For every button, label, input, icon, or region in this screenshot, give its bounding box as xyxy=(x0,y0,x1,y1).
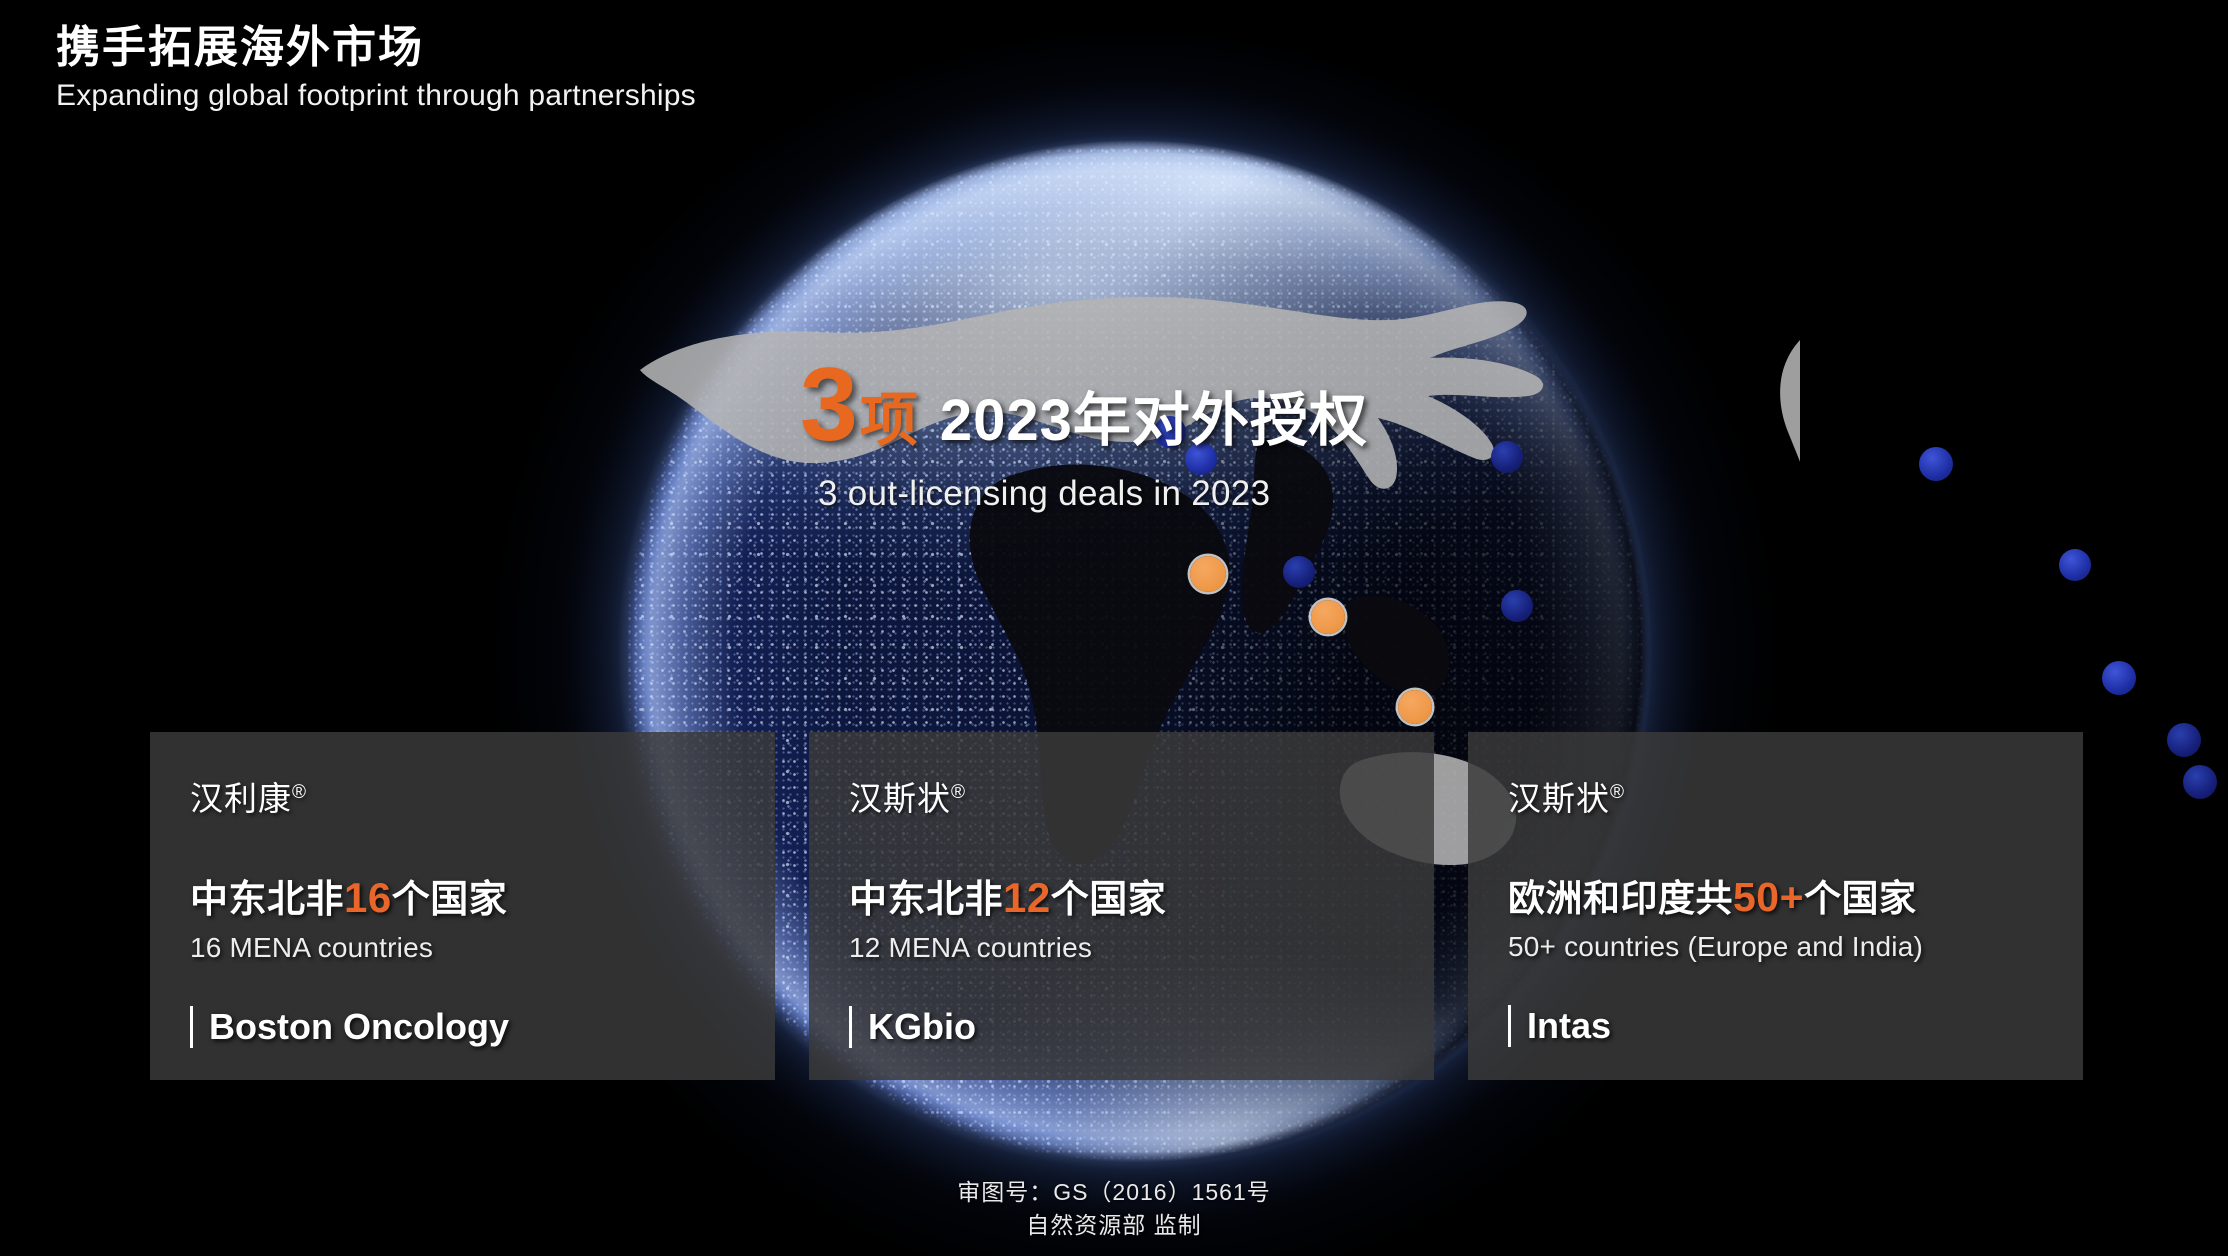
partnership-card: 汉斯状® 欧洲和印度共50+个国家 50+ countries (Europe … xyxy=(1468,732,2083,1080)
card-partner-name: Intas xyxy=(1527,1005,1611,1047)
footer-line-approval-number: 审图号：GS（2016）1561号 xyxy=(0,1176,2228,1209)
footer-line-authority: 自然资源部 监制 xyxy=(0,1209,2228,1242)
card-brand-name: 汉斯状 xyxy=(1508,780,1610,817)
card-brand: 汉斯状® xyxy=(1508,772,2083,820)
card-metric-en: 16 MENA countries xyxy=(190,932,775,964)
map-marker-india xyxy=(1311,600,1345,634)
north-america-landmass xyxy=(1780,326,1800,684)
vertical-bar-icon xyxy=(190,1006,193,1048)
map-marker-brazil-south xyxy=(2183,765,2217,799)
vertical-bar-icon xyxy=(849,1006,852,1048)
card-metric-prefix: 欧洲和印度共 xyxy=(1508,878,1733,919)
registered-trademark-icon: ® xyxy=(1610,782,1625,803)
card-metric-prefix: 中东北非 xyxy=(849,879,1003,921)
headline-number: 3 xyxy=(800,358,858,454)
card-brand: 汉斯状® xyxy=(849,772,1434,820)
partnership-card: 汉利康® 中东北非16个国家 16 MENA countries Boston … xyxy=(150,732,775,1080)
page-title-cn: 携手拓展海外市场 xyxy=(56,22,696,73)
map-marker-central-asia xyxy=(1283,556,1315,588)
headline-block: 3 项 2023年对外授权 3 out-licensing deals in 2… xyxy=(800,358,1368,514)
map-marker-south-america-north xyxy=(2102,661,2136,695)
map-marker-brazil-east xyxy=(2167,723,2201,757)
card-divider-gap xyxy=(1434,732,1468,1080)
card-metric-number: 12 xyxy=(1003,874,1051,921)
map-marker-east-asia xyxy=(1491,441,1523,473)
card-partner: Intas xyxy=(1508,1005,2083,1047)
vertical-bar-icon xyxy=(1508,1005,1511,1047)
headline-subtitle: 3 out-licensing deals in 2023 xyxy=(818,474,1368,514)
card-brand-name: 汉斯状 xyxy=(849,780,951,817)
card-metric: 中东北非12个国家 xyxy=(849,868,1434,923)
southeast-asia-shadow xyxy=(1344,596,1449,696)
card-metric-suffix: 个国家 xyxy=(1804,878,1917,919)
card-metric-number: 16 xyxy=(344,874,392,921)
partnership-card: 汉斯状® 中东北非12个国家 12 MENA countries KGbio xyxy=(809,732,1434,1080)
map-approval-footer: 审图号：GS（2016）1561号 自然资源部 监制 xyxy=(0,1176,2228,1241)
card-metric-suffix: 个国家 xyxy=(1051,879,1167,921)
card-divider-gap xyxy=(775,732,809,1080)
headline-unit: 项 xyxy=(860,392,918,450)
card-metric: 中东北非16个国家 xyxy=(190,868,775,923)
card-brand-name: 汉利康 xyxy=(190,780,292,817)
card-metric-number: 50+ xyxy=(1733,874,1804,920)
card-metric-en: 12 MENA countries xyxy=(849,932,1434,964)
headline-text: 2023年对外授权 xyxy=(940,392,1368,450)
card-brand: 汉利康® xyxy=(190,772,775,820)
card-partner-name: KGbio xyxy=(868,1006,976,1048)
map-marker-southeast-asia xyxy=(1398,690,1432,724)
card-metric-en: 50+ countries (Europe and India) xyxy=(1508,931,2083,963)
card-partner-name: Boston Oncology xyxy=(209,1006,509,1048)
card-metric-prefix: 中东北非 xyxy=(190,879,344,921)
slide-root: 携手拓展海外市场 Expanding global footprint thro… xyxy=(0,0,2228,1256)
partnership-cards: 汉利康® 中东北非16个国家 16 MENA countries Boston … xyxy=(150,732,2083,1080)
map-marker-middle-east xyxy=(1190,556,1226,592)
map-marker-japan xyxy=(1501,590,1533,622)
registered-trademark-icon: ® xyxy=(951,782,966,803)
card-partner: Boston Oncology xyxy=(190,1006,775,1048)
card-metric-suffix: 个国家 xyxy=(392,879,508,921)
page-title-en: Expanding global footprint through partn… xyxy=(56,79,696,113)
card-partner: KGbio xyxy=(849,1006,1434,1048)
map-marker-caribbean xyxy=(2059,549,2091,581)
slide-header: 携手拓展海外市场 Expanding global footprint thro… xyxy=(56,22,696,113)
headline-row: 3 项 2023年对外授权 xyxy=(800,358,1368,454)
card-metric: 欧洲和印度共50+个国家 xyxy=(1508,868,2083,922)
registered-trademark-icon: ® xyxy=(292,782,307,803)
map-marker-north-america xyxy=(1919,447,1953,481)
